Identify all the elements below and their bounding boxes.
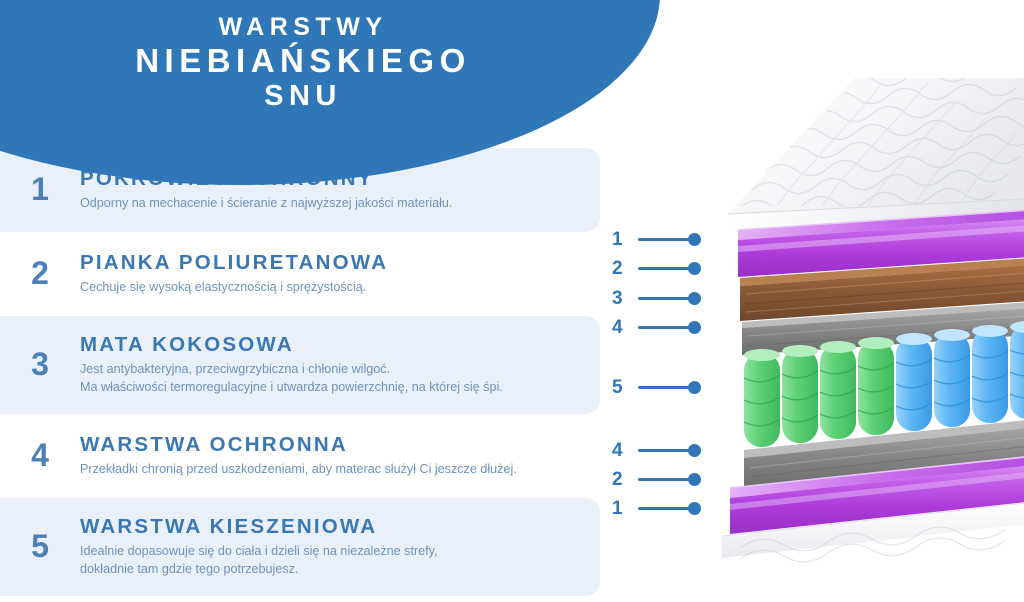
layer-title: PIANKA POLIURETANOWA — [80, 251, 586, 275]
callout-line — [638, 478, 690, 481]
layer-item[interactable]: 2PIANKA POLIURETANOWACechuje się wysoką … — [0, 232, 600, 316]
callout-marker[interactable]: 1 — [612, 228, 701, 250]
callout-dot-icon — [688, 381, 701, 394]
callout-number: 4 — [612, 441, 638, 460]
callout-number: 2 — [612, 259, 638, 278]
header-title-line-3: SNU — [0, 81, 600, 111]
layer-description: Cechuje się wysoką elastycznością i sprę… — [80, 279, 586, 297]
callout-marker[interactable]: 4 — [612, 439, 701, 461]
layer-title: WARSTWA OCHRONNA — [80, 433, 586, 457]
callout-number: 2 — [612, 470, 638, 489]
layer-number: 4 — [0, 439, 80, 473]
layer-description: Jest antybakteryjna, przeciwgrzybiczna i… — [80, 361, 586, 397]
callout-marker[interactable]: 2 — [612, 468, 701, 490]
quilted-cover-top-layer — [728, 78, 1024, 228]
callout-number: 5 — [612, 378, 638, 397]
callout-line — [638, 507, 690, 510]
layer-number: 3 — [0, 348, 80, 382]
callout-marker[interactable]: 4 — [612, 316, 701, 338]
layer-text-block: PIANKA POLIURETANOWACechuje się wysoką e… — [80, 251, 600, 297]
layer-description: Przekładki chronią przed uszkodzeniami, … — [80, 461, 586, 479]
layer-title: WARSTWA KIESZENIOWA — [80, 515, 586, 539]
layer-number: 1 — [0, 173, 80, 207]
layer-description: Idealnie dopasowuje się do ciała i dziel… — [80, 543, 586, 579]
layer-description: Odporny na mechacenie i ścieranie z najw… — [80, 195, 586, 213]
layer-number: 5 — [0, 530, 80, 564]
layer-text-block: WARSTWA KIESZENIOWAIdealnie dopasowuje s… — [80, 515, 600, 579]
header-title-line-1: WARSTWY — [0, 14, 600, 40]
callout-marker[interactable]: 5 — [612, 376, 701, 398]
callout-dot-icon — [688, 444, 701, 457]
layer-item[interactable]: 3MATA KOKOSOWAJest antybakteryjna, przec… — [0, 316, 600, 414]
callout-line — [638, 238, 690, 241]
layer-text-block: WARSTWA OCHRONNAPrzekładki chronią przed… — [80, 433, 600, 479]
callout-dot-icon — [688, 262, 701, 275]
callout-marker[interactable]: 2 — [612, 257, 701, 279]
callout-marker[interactable]: 3 — [612, 287, 701, 309]
callout-line — [638, 297, 690, 300]
layer-item[interactable]: 4WARSTWA OCHRONNAPrzekładki chronią prze… — [0, 414, 600, 498]
callout-line — [638, 267, 690, 270]
callout-dot-icon — [688, 502, 701, 515]
callout-line — [638, 326, 690, 329]
callout-dot-icon — [688, 473, 701, 486]
header-title: WARSTWY NIEBIAŃSKIEGO SNU — [0, 14, 600, 111]
callout-line — [638, 449, 690, 452]
callout-dot-icon — [688, 321, 701, 334]
callout-list: 12345421 — [612, 0, 742, 602]
callout-number: 1 — [612, 499, 638, 518]
layer-text-block: MATA KOKOSOWAJest antybakteryjna, przeci… — [80, 333, 600, 397]
callout-marker[interactable]: 1 — [612, 497, 701, 519]
pocket-spring-green-group — [744, 337, 894, 447]
layer-title: MATA KOKOSOWA — [80, 333, 586, 357]
infographic-page: WARSTWY NIEBIAŃSKIEGO SNU 1POKROWIEC OCH… — [0, 0, 1024, 602]
callout-number: 3 — [612, 289, 638, 308]
callout-number: 1 — [612, 230, 638, 249]
pocket-spring-blue-group — [896, 321, 1024, 431]
callout-dot-icon — [688, 292, 701, 305]
callout-number: 4 — [612, 318, 638, 337]
callout-line — [638, 386, 690, 389]
callout-dot-icon — [688, 233, 701, 246]
layer-item[interactable]: 5WARSTWA KIESZENIOWAIdealnie dopasowuje … — [0, 498, 600, 596]
layer-number: 2 — [0, 257, 80, 291]
header-title-line-2: NIEBIAŃSKIEGO — [0, 44, 600, 78]
mattress-cutaway-illustration — [700, 78, 1024, 578]
